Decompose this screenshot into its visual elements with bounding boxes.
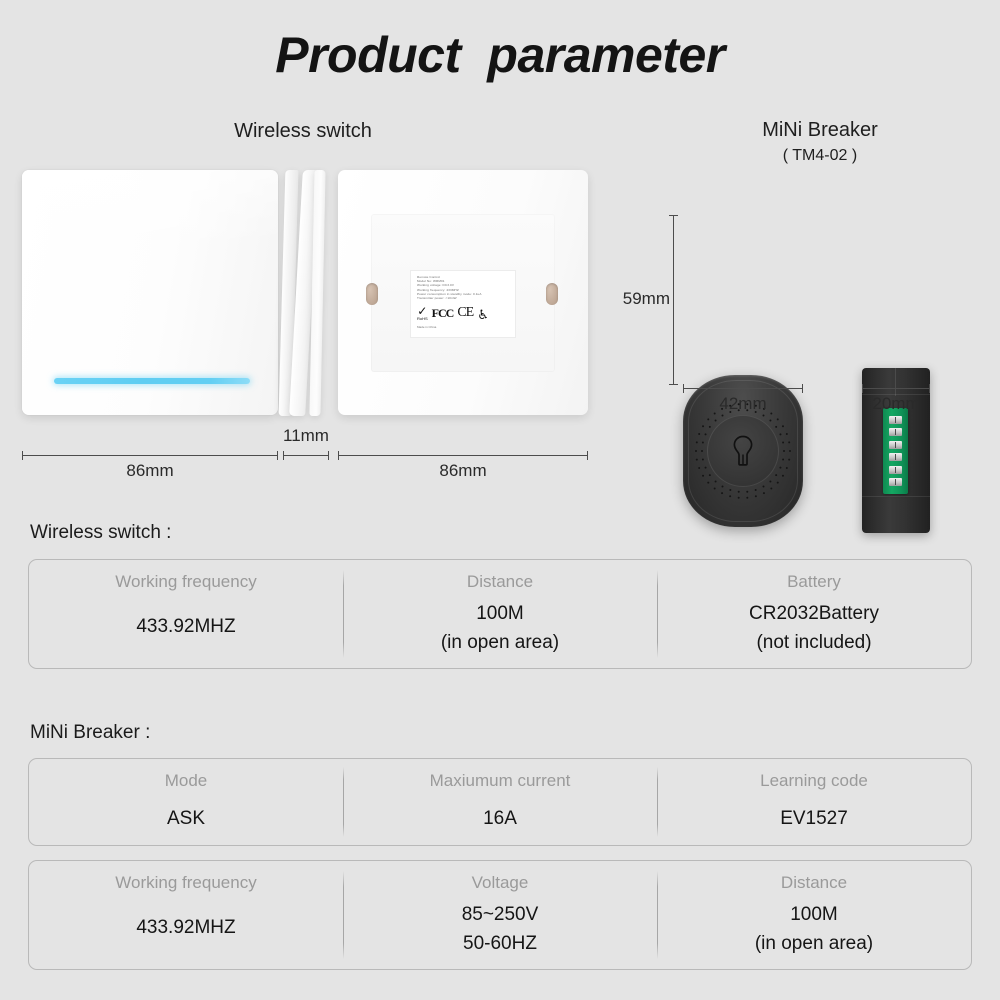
certification-marks: ✓ RoHS FCC CE ♿	[417, 303, 510, 321]
spec-column-header: Working frequency	[115, 872, 256, 894]
spec-column-header: Maxiumum current	[430, 770, 571, 792]
breaker-width-dimension-line	[683, 388, 803, 389]
breaker-depth-dimension-label: 20mm	[855, 394, 937, 414]
spec-column-value: ASK	[167, 804, 205, 833]
breaker-height-dimension-label: 59mm	[598, 289, 670, 309]
mounting-screw-right	[546, 283, 558, 305]
product-photo-area: Remote Control Model No: WRM01 Working v…	[0, 160, 1000, 480]
spec-column-header: Distance	[467, 571, 533, 593]
switch-front-width-dimension-line	[22, 455, 278, 456]
spec-column: Working frequency 433.92MHZ	[29, 560, 343, 668]
spec-column-value: 85~250V	[462, 900, 539, 929]
rohs-label: RoHS	[417, 316, 428, 321]
spec-column-header: Working frequency	[115, 571, 256, 593]
section-heading-mini-breaker: MiNi Breaker :	[30, 722, 150, 744]
spec-column-header: Mode	[165, 770, 208, 792]
mounting-screw-left	[366, 283, 378, 305]
section-heading-wireless-switch: Wireless switch :	[30, 522, 171, 544]
switch-thickness-dimension-label: 11mm	[268, 426, 344, 446]
spec-column-value: 50-60HZ	[463, 929, 537, 958]
mini-breaker-spec-table-1: Mode ASK Maxiumum current 16A Learning c…	[28, 758, 972, 846]
switch-back-view: Remote Control Model No: WRM01 Working v…	[338, 170, 588, 415]
spec-column-value: (in open area)	[441, 628, 559, 657]
spec-column-value: (in open area)	[755, 929, 873, 958]
switch-front-width-dimension-label: 86mm	[22, 461, 278, 481]
breaker-depth-dimension-line	[862, 388, 930, 389]
spec-column: Distance 100M (in open area)	[657, 861, 971, 969]
breaker-seam	[895, 368, 896, 396]
product-spec-label: Remote Control Model No: WRM01 Working v…	[410, 270, 516, 338]
spec-label-lines: Remote Control Model No: WRM01 Working v…	[417, 275, 510, 300]
page-title: Product parameter	[0, 26, 1000, 84]
light-bulb-icon	[730, 434, 756, 466]
spec-column-value: 100M	[476, 599, 524, 628]
spec-column: Learning code EV1527	[657, 759, 971, 845]
rohs-icon: ✓ RoHS	[417, 306, 428, 321]
product-parameter-page: Product parameter Wireless switch MiNi B…	[0, 0, 1000, 1000]
spec-column-value: 100M	[790, 900, 838, 929]
switch-side-view	[282, 170, 330, 418]
switch-front-view	[22, 170, 278, 415]
led-indicator-strip	[54, 378, 250, 384]
spec-column-value: (not included)	[756, 628, 871, 657]
green-terminal-block	[883, 408, 908, 494]
ce-icon: CE	[457, 305, 473, 321]
spec-column-value: CR2032Battery	[749, 599, 879, 628]
spec-column: Maxiumum current 16A	[343, 759, 657, 845]
rohs-check-glyph: ✓	[417, 306, 428, 316]
mini-breaker-spec-table-2: Working frequency 433.92MHZ Voltage 85~2…	[28, 860, 972, 970]
origin-text: Made in China	[417, 325, 510, 329]
wireless-switch-spec-table: Working frequency 433.92MHZ Distance 100…	[28, 559, 972, 669]
weee-bin-icon: ♿	[477, 309, 489, 321]
breaker-width-dimension-label: 42mm	[683, 394, 803, 414]
switch-back-width-dimension-label: 86mm	[338, 461, 588, 481]
spec-column-value: 433.92MHZ	[136, 612, 235, 641]
switch-thickness-dimension-line	[283, 455, 329, 456]
fcc-icon: FCC	[432, 306, 454, 321]
breaker-height-dimension-line	[673, 215, 674, 385]
wireless-switch-caption: Wireless switch	[178, 120, 428, 143]
mini-breaker-side-view	[862, 368, 930, 533]
spec-column-value: EV1527	[780, 804, 848, 833]
spec-column: Distance 100M (in open area)	[343, 560, 657, 668]
mini-breaker-caption: MiNi Breaker	[680, 119, 960, 142]
spec-column-header: Voltage	[472, 872, 529, 894]
spec-column-value: 16A	[483, 804, 517, 833]
spec-column: Voltage 85~250V 50-60HZ	[343, 861, 657, 969]
spec-column-header: Learning code	[760, 770, 868, 792]
spec-column: Working frequency 433.92MHZ	[29, 861, 343, 969]
spec-column: Battery CR2032Battery (not included)	[657, 560, 971, 668]
spec-column-header: Battery	[787, 571, 841, 593]
spec-column: Mode ASK	[29, 759, 343, 845]
spec-line: Transmitter power: <10mW	[417, 296, 510, 300]
switch-back-width-dimension-line	[338, 455, 588, 456]
spec-column-value: 433.92MHZ	[136, 913, 235, 942]
spec-column-header: Distance	[781, 872, 847, 894]
